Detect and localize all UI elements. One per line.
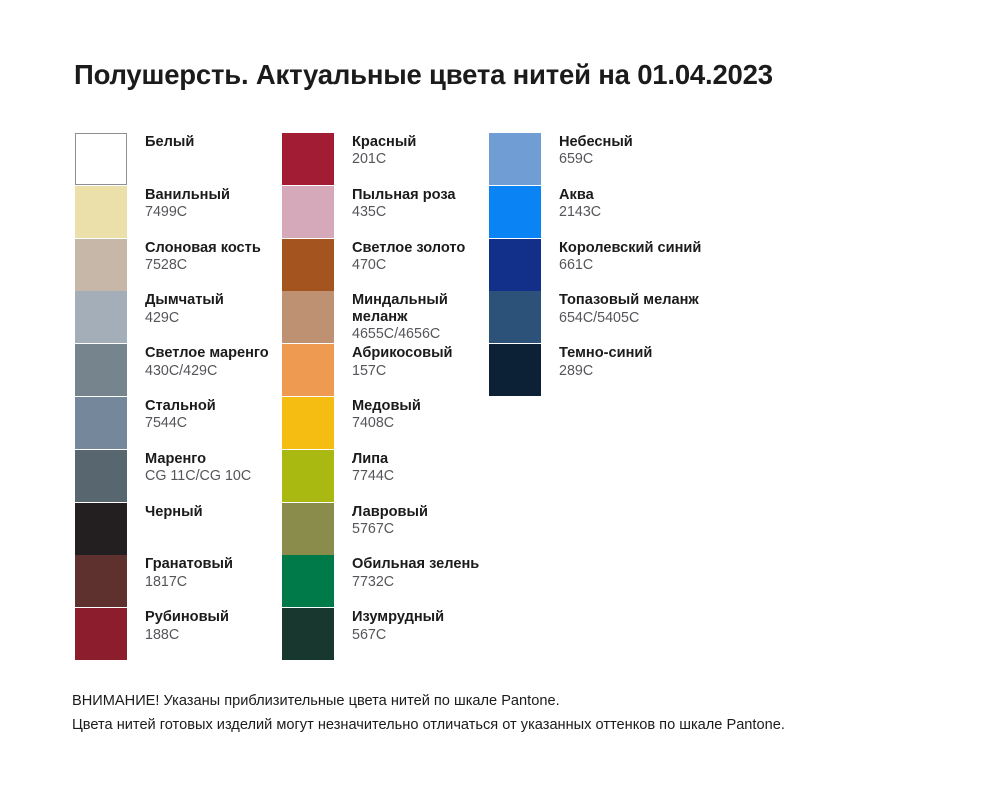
swatch-row: Медовый7408C	[282, 397, 421, 449]
swatch-name: Лавровый	[352, 504, 428, 520]
swatch-row: Ванильный7499C	[75, 186, 230, 238]
swatch-row: Королевский синий661C	[489, 239, 701, 291]
swatch-pantone-code: 661C	[559, 257, 701, 273]
swatch-row: Пыльная роза435C	[282, 186, 456, 238]
page-title: Полушерсть. Актуальные цвета нитей на 01…	[74, 59, 773, 91]
swatch-text: Топазовый меланж654C/5405C	[559, 291, 699, 325]
swatch-name: Рубиновый	[145, 609, 229, 625]
swatch-name: Темно-синий	[559, 345, 652, 361]
swatch-text: Небесный659C	[559, 133, 633, 167]
swatch-pantone-code: 1817C	[145, 574, 233, 590]
swatch-name: Аква	[559, 187, 601, 203]
swatch-row: МаренгоCG 11C/CG 10C	[75, 450, 251, 502]
swatch-name: Белый	[145, 134, 194, 150]
swatch-text: Аква2143C	[559, 186, 601, 220]
color-swatch	[75, 503, 127, 555]
swatch-name: Слоновая кость	[145, 240, 261, 256]
swatch-pantone-code: 7408C	[352, 415, 421, 431]
color-swatch	[282, 503, 334, 555]
swatch-row: Дымчатый429C	[75, 291, 224, 343]
swatch-row: Небесный659C	[489, 133, 633, 185]
swatch-name: Королевский синий	[559, 240, 701, 256]
swatch-name: Липа	[352, 451, 394, 467]
swatch-name: Ванильный	[145, 187, 230, 203]
color-swatch	[282, 186, 334, 238]
swatch-name: Обильная зелень	[352, 556, 479, 572]
color-swatch	[282, 291, 334, 343]
swatch-name: Топазовый меланж	[559, 292, 699, 308]
color-swatch	[75, 344, 127, 396]
swatch-pantone-code: 4655C/4656C	[352, 326, 472, 342]
swatch-name: Миндальный меланж	[352, 292, 472, 325]
swatch-text: Стальной7544C	[145, 397, 216, 431]
swatch-row: Лавровый5767C	[282, 503, 428, 555]
swatch-row: Абрикосовый157C	[282, 344, 453, 396]
swatch-pantone-code: 7544C	[145, 415, 216, 431]
color-swatch	[75, 291, 127, 343]
color-swatch	[75, 608, 127, 660]
swatch-row: Гранатовый1817C	[75, 555, 233, 607]
footer-line-2: Цвета нитей готовых изделий могут незнач…	[72, 714, 785, 738]
swatch-text: Обильная зелень7732C	[352, 555, 479, 589]
swatch-row: Липа7744C	[282, 450, 394, 502]
swatch-pantone-code: 201C	[352, 151, 416, 167]
swatch-text: Абрикосовый157C	[352, 344, 453, 378]
color-swatch	[489, 133, 541, 185]
swatch-text: Медовый7408C	[352, 397, 421, 431]
swatch-text: Королевский синий661C	[559, 239, 701, 273]
color-swatch	[75, 133, 127, 185]
swatch-text: Черный	[145, 503, 203, 520]
color-swatch	[282, 133, 334, 185]
swatch-row: Аква2143C	[489, 186, 601, 238]
swatch-pantone-code: 188C	[145, 627, 229, 643]
footer-line-1: ВНИМАНИЕ! Указаны приблизительные цвета …	[72, 690, 785, 714]
color-chart-page: Полушерсть. Актуальные цвета нитей на 01…	[0, 0, 1000, 801]
swatch-text: Светлое маренго430C/429C	[145, 344, 269, 378]
swatch-text: Темно-синий289C	[559, 344, 652, 378]
swatch-pantone-code: 7744C	[352, 468, 394, 484]
swatch-text: Липа7744C	[352, 450, 394, 484]
swatch-text: МаренгоCG 11C/CG 10C	[145, 450, 251, 484]
swatch-row: Светлое маренго430C/429C	[75, 344, 269, 396]
swatch-pantone-code: CG 11C/CG 10C	[145, 468, 251, 484]
swatch-text: Изумрудный567C	[352, 608, 444, 642]
swatch-text: Гранатовый1817C	[145, 555, 233, 589]
swatch-text: Белый	[145, 133, 194, 150]
swatch-text: Миндальный меланж4655C/4656C	[352, 291, 472, 342]
color-swatch	[75, 186, 127, 238]
swatch-row: Светлое золото470C	[282, 239, 465, 291]
swatch-row: Рубиновый188C	[75, 608, 229, 660]
swatch-row: Миндальный меланж4655C/4656C	[282, 291, 472, 343]
swatch-pantone-code: 289C	[559, 363, 652, 379]
color-swatch	[489, 344, 541, 396]
swatch-pantone-code: 654C/5405C	[559, 310, 699, 326]
swatch-name: Гранатовый	[145, 556, 233, 572]
color-swatch	[282, 555, 334, 607]
swatch-text: Светлое золото470C	[352, 239, 465, 273]
color-swatch	[489, 239, 541, 291]
swatch-row: Обильная зелень7732C	[282, 555, 479, 607]
swatch-pantone-code: 7528C	[145, 257, 261, 273]
swatch-pantone-code: 2143C	[559, 204, 601, 220]
swatch-pantone-code: 157C	[352, 363, 453, 379]
swatch-text: Слоновая кость7528C	[145, 239, 261, 273]
swatch-row: Слоновая кость7528C	[75, 239, 261, 291]
swatch-name: Маренго	[145, 451, 251, 467]
swatch-text: Лавровый5767C	[352, 503, 428, 537]
swatch-name: Стальной	[145, 398, 216, 414]
swatch-row: Красный201C	[282, 133, 416, 185]
color-swatch	[282, 344, 334, 396]
swatch-text: Дымчатый429C	[145, 291, 224, 325]
swatch-row: Топазовый меланж654C/5405C	[489, 291, 699, 343]
swatch-name: Красный	[352, 134, 416, 150]
color-swatch	[75, 239, 127, 291]
color-swatch	[75, 555, 127, 607]
color-swatch	[489, 291, 541, 343]
swatch-pantone-code: 470C	[352, 257, 465, 273]
swatch-text: Рубиновый188C	[145, 608, 229, 642]
swatch-pantone-code: 429C	[145, 310, 224, 326]
color-swatch	[282, 608, 334, 660]
swatch-pantone-code: 659C	[559, 151, 633, 167]
color-swatch	[489, 186, 541, 238]
swatch-name: Абрикосовый	[352, 345, 453, 361]
swatch-name: Черный	[145, 504, 203, 520]
swatch-name: Светлое золото	[352, 240, 465, 256]
swatch-row: Темно-синий289C	[489, 344, 652, 396]
swatch-text: Ванильный7499C	[145, 186, 230, 220]
swatch-pantone-code: 435C	[352, 204, 456, 220]
color-swatch	[282, 239, 334, 291]
swatch-text: Красный201C	[352, 133, 416, 167]
swatch-pantone-code: 430C/429C	[145, 363, 269, 379]
swatch-name: Небесный	[559, 134, 633, 150]
color-swatch	[75, 450, 127, 502]
color-swatch	[282, 397, 334, 449]
swatch-row: Изумрудный567C	[282, 608, 444, 660]
swatch-name: Медовый	[352, 398, 421, 414]
swatch-name: Изумрудный	[352, 609, 444, 625]
swatch-row: Стальной7544C	[75, 397, 216, 449]
swatch-name: Дымчатый	[145, 292, 224, 308]
swatch-name: Светлое маренго	[145, 345, 269, 361]
swatch-pantone-code: 7732C	[352, 574, 479, 590]
swatch-pantone-code: 7499C	[145, 204, 230, 220]
swatch-pantone-code: 567C	[352, 627, 444, 643]
footer-note: ВНИМАНИЕ! Указаны приблизительные цвета …	[72, 690, 785, 737]
swatch-row: Черный	[75, 503, 203, 555]
swatch-row: Белый	[75, 133, 194, 185]
color-swatch	[282, 450, 334, 502]
swatch-name: Пыльная роза	[352, 187, 456, 203]
swatch-pantone-code: 5767C	[352, 521, 428, 537]
color-swatch	[75, 397, 127, 449]
swatch-text: Пыльная роза435C	[352, 186, 456, 220]
